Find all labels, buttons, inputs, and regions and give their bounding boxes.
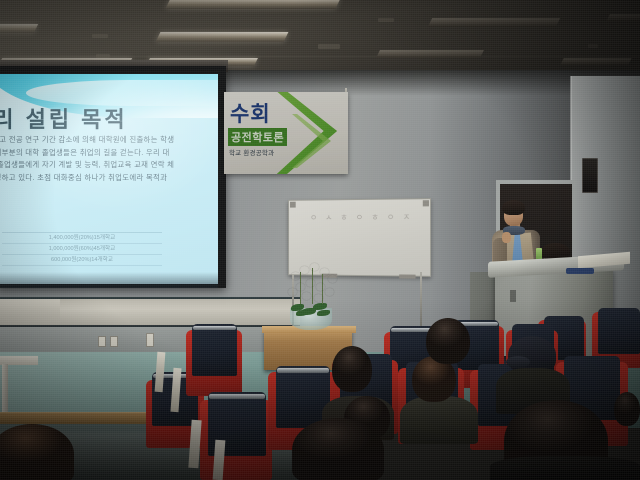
banner-title: 수회 bbox=[230, 98, 271, 128]
wall-wainscot-panel bbox=[0, 297, 60, 327]
audience-member-back-left bbox=[332, 346, 372, 392]
slide-body-line: 행 및 졸업생들에게 자기 계발 및 능력, 취업교육 교재 연락 체 bbox=[0, 159, 218, 172]
orchid-bloom bbox=[288, 288, 297, 296]
banner-subtitle: 공전학토론 bbox=[228, 128, 287, 146]
wall-switch[interactable] bbox=[146, 333, 154, 347]
projection-screen: 아리 설립 목적 졸업예고 전공 연구 기간 감소에 의해 대학원에 진출하는 … bbox=[0, 74, 218, 284]
audience-member-center bbox=[426, 318, 470, 364]
orchid-bloom bbox=[291, 272, 300, 280]
presenter-hand bbox=[502, 232, 511, 243]
wall-outlet bbox=[110, 336, 118, 347]
wall-banner: 수회 공전학토론 학교 환경공학과 bbox=[224, 92, 348, 174]
whiteboard-corner bbox=[423, 200, 429, 206]
orchid-bloom bbox=[314, 294, 323, 302]
whiteboard-corner bbox=[290, 202, 296, 208]
orchid-bloom bbox=[310, 263, 319, 271]
slide-body-text: 졸업예고 전공 연구 기간 감소에 의해 대학원에 진출하는 학생 고는 대부분… bbox=[0, 134, 218, 184]
podium-control-panel[interactable] bbox=[510, 290, 516, 302]
leaf bbox=[296, 310, 308, 316]
slide-table-row: 1,400,000원(20%)15개학교 bbox=[2, 233, 162, 244]
seat-back[interactable] bbox=[192, 324, 237, 376]
whiteboard-leg bbox=[420, 272, 422, 332]
wall-outlet bbox=[98, 336, 106, 347]
slide-title: 아리 설립 목적 bbox=[0, 102, 218, 134]
orchid-bloom bbox=[328, 275, 337, 283]
orchid-bloom bbox=[296, 283, 305, 291]
orchid-bloom bbox=[300, 266, 309, 274]
whiteboard-marker-tray bbox=[399, 274, 415, 278]
leaf bbox=[317, 310, 330, 316]
slide-table-row: 1,000,000원(60%)45개학교 bbox=[2, 244, 162, 255]
seat-back[interactable] bbox=[598, 308, 640, 354]
screen-bottom-shadow bbox=[0, 272, 218, 288]
leaf bbox=[313, 303, 327, 310]
orchid-bloom bbox=[302, 292, 311, 300]
seat-trim bbox=[277, 368, 329, 373]
side-table-leg bbox=[2, 364, 8, 412]
podium-object bbox=[566, 268, 594, 274]
orchid-bloom bbox=[325, 288, 334, 296]
slide-table-row: 600,000원(20%)14개학교 bbox=[2, 255, 162, 266]
audience-member-far-right bbox=[614, 392, 640, 426]
audience-member-center-left-shoulders bbox=[400, 396, 478, 444]
slide-body-line: 졸업예고 전공 연구 기간 감소에 의해 대학원에 진출하는 학생 bbox=[0, 134, 218, 147]
slide-body-line: 고는 대부분의 대학 졸업생들은 취업의 길을 걷는다. 우리 대 bbox=[0, 147, 218, 160]
whiteboard-writing: ㅇ ㅅ ㅎ ㅇ ㅎ ㅇ ㅈ bbox=[310, 212, 405, 224]
orchid-foliage bbox=[289, 300, 333, 318]
audience-member-front-right-shoulders bbox=[490, 456, 640, 480]
wall-mounted-speaker bbox=[582, 158, 598, 193]
lecture-hall-photo: 아리 설립 목적 졸업예고 전공 연구 기간 감소에 의해 대학원에 진출하는 … bbox=[0, 0, 640, 480]
slide-body-line: 로 운영하고 있다. 초점 대화중심 하나가 취업도에라 목적과 bbox=[0, 172, 218, 185]
audience-member-front-center bbox=[292, 418, 384, 480]
orchid-bloom bbox=[316, 283, 325, 291]
slide-data-table: 1,400,000원(20%)15개학교 1,000,000원(60%)45개학… bbox=[2, 232, 162, 266]
orchid-bloom bbox=[320, 268, 329, 276]
cap-brim bbox=[506, 356, 530, 368]
seat-trim bbox=[209, 394, 265, 399]
seat-trim bbox=[193, 326, 236, 330]
presenter-hair bbox=[502, 200, 525, 215]
banner-small-text: 학교 환경공학과 bbox=[229, 147, 274, 157]
orchid-bloom bbox=[306, 279, 315, 287]
